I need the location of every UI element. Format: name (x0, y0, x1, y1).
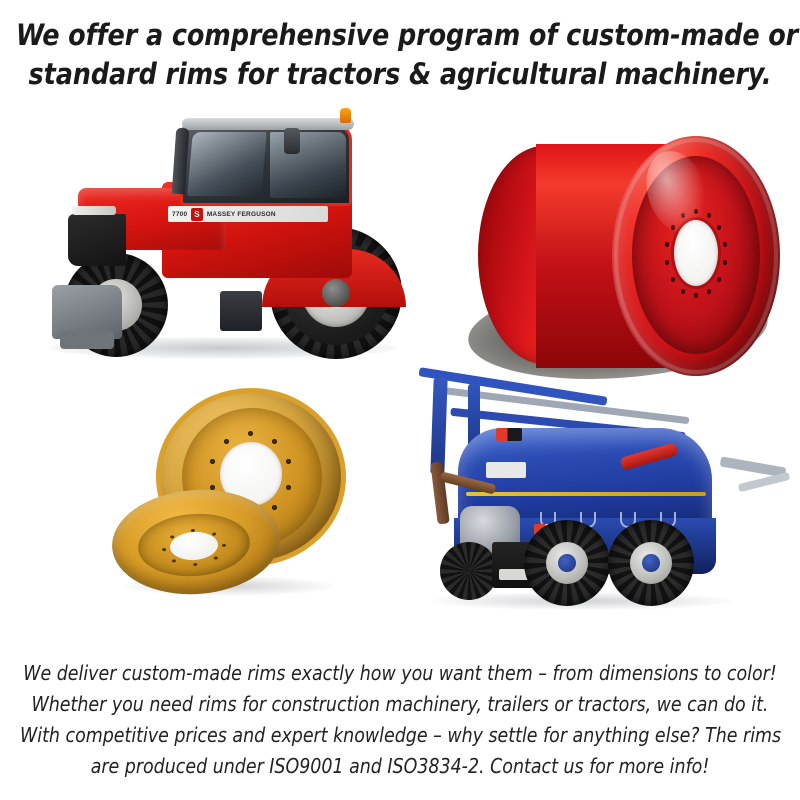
tractor-cab-roof (182, 118, 354, 130)
tanker-rear-arm-lower (738, 472, 790, 492)
footer-line-1: We deliver custom-made rims exactly how … (20, 658, 780, 689)
tractor-rear-hub (322, 279, 350, 307)
red-rim-photo (462, 134, 792, 394)
tractor-grille (68, 214, 126, 266)
tanker-brand-logo (486, 462, 526, 478)
tanker-wheel-hub-2 (642, 554, 660, 572)
tractor-photo: 7700 S MASSEY FERGUSON (22, 110, 422, 365)
tractor-model-number: 7700 (172, 211, 187, 218)
tractor-brand-text: MASSEY FERGUSON (207, 211, 276, 218)
yellow-rims-photo (112, 382, 348, 600)
footer-line-4: are produced under ISO9001 and ISO3834-2… (20, 751, 780, 782)
blue-tanker-photo (396, 366, 792, 614)
tanker-axle-wheel-2 (608, 520, 694, 606)
tractor-side-window (270, 132, 346, 198)
tractor-side-mirror (284, 128, 300, 154)
footer-paragraph: We deliver custom-made rims exactly how … (20, 658, 780, 782)
headline-line-2: standard rims for tractors & agricultura… (16, 55, 784, 94)
page-headline: We offer a comprehensive program of cust… (16, 16, 784, 94)
tanker-marker-light-upper (496, 428, 522, 441)
tractor-model-badge: S (191, 208, 203, 221)
footer-line-3: With competitive prices and expert knowl… (20, 720, 780, 751)
tanker-yellow-stripe (466, 492, 706, 496)
tractor-beacon-light (340, 108, 351, 123)
tractor-front-linkage (52, 285, 122, 339)
product-image-collage: 7700 S MASSEY FERGUSON (0, 104, 800, 634)
tractor-headlight-bar (72, 206, 116, 215)
tanker-axle-wheel-1 (524, 520, 610, 606)
tanker-front-mast (430, 378, 447, 474)
headline-line-1: We offer a comprehensive program of cust… (16, 16, 784, 55)
tanker-front-wheel (440, 542, 498, 600)
tanker-suction-pipe (430, 461, 449, 524)
tanker-wheel-hub-1 (558, 554, 576, 572)
tractor-brand-decal: 7700 S MASSEY FERGUSON (168, 206, 328, 222)
footer-line-2: Whether you need rims for construction m… (20, 689, 780, 720)
tractor-cab-step (220, 291, 262, 331)
tractor-windshield (187, 132, 267, 196)
